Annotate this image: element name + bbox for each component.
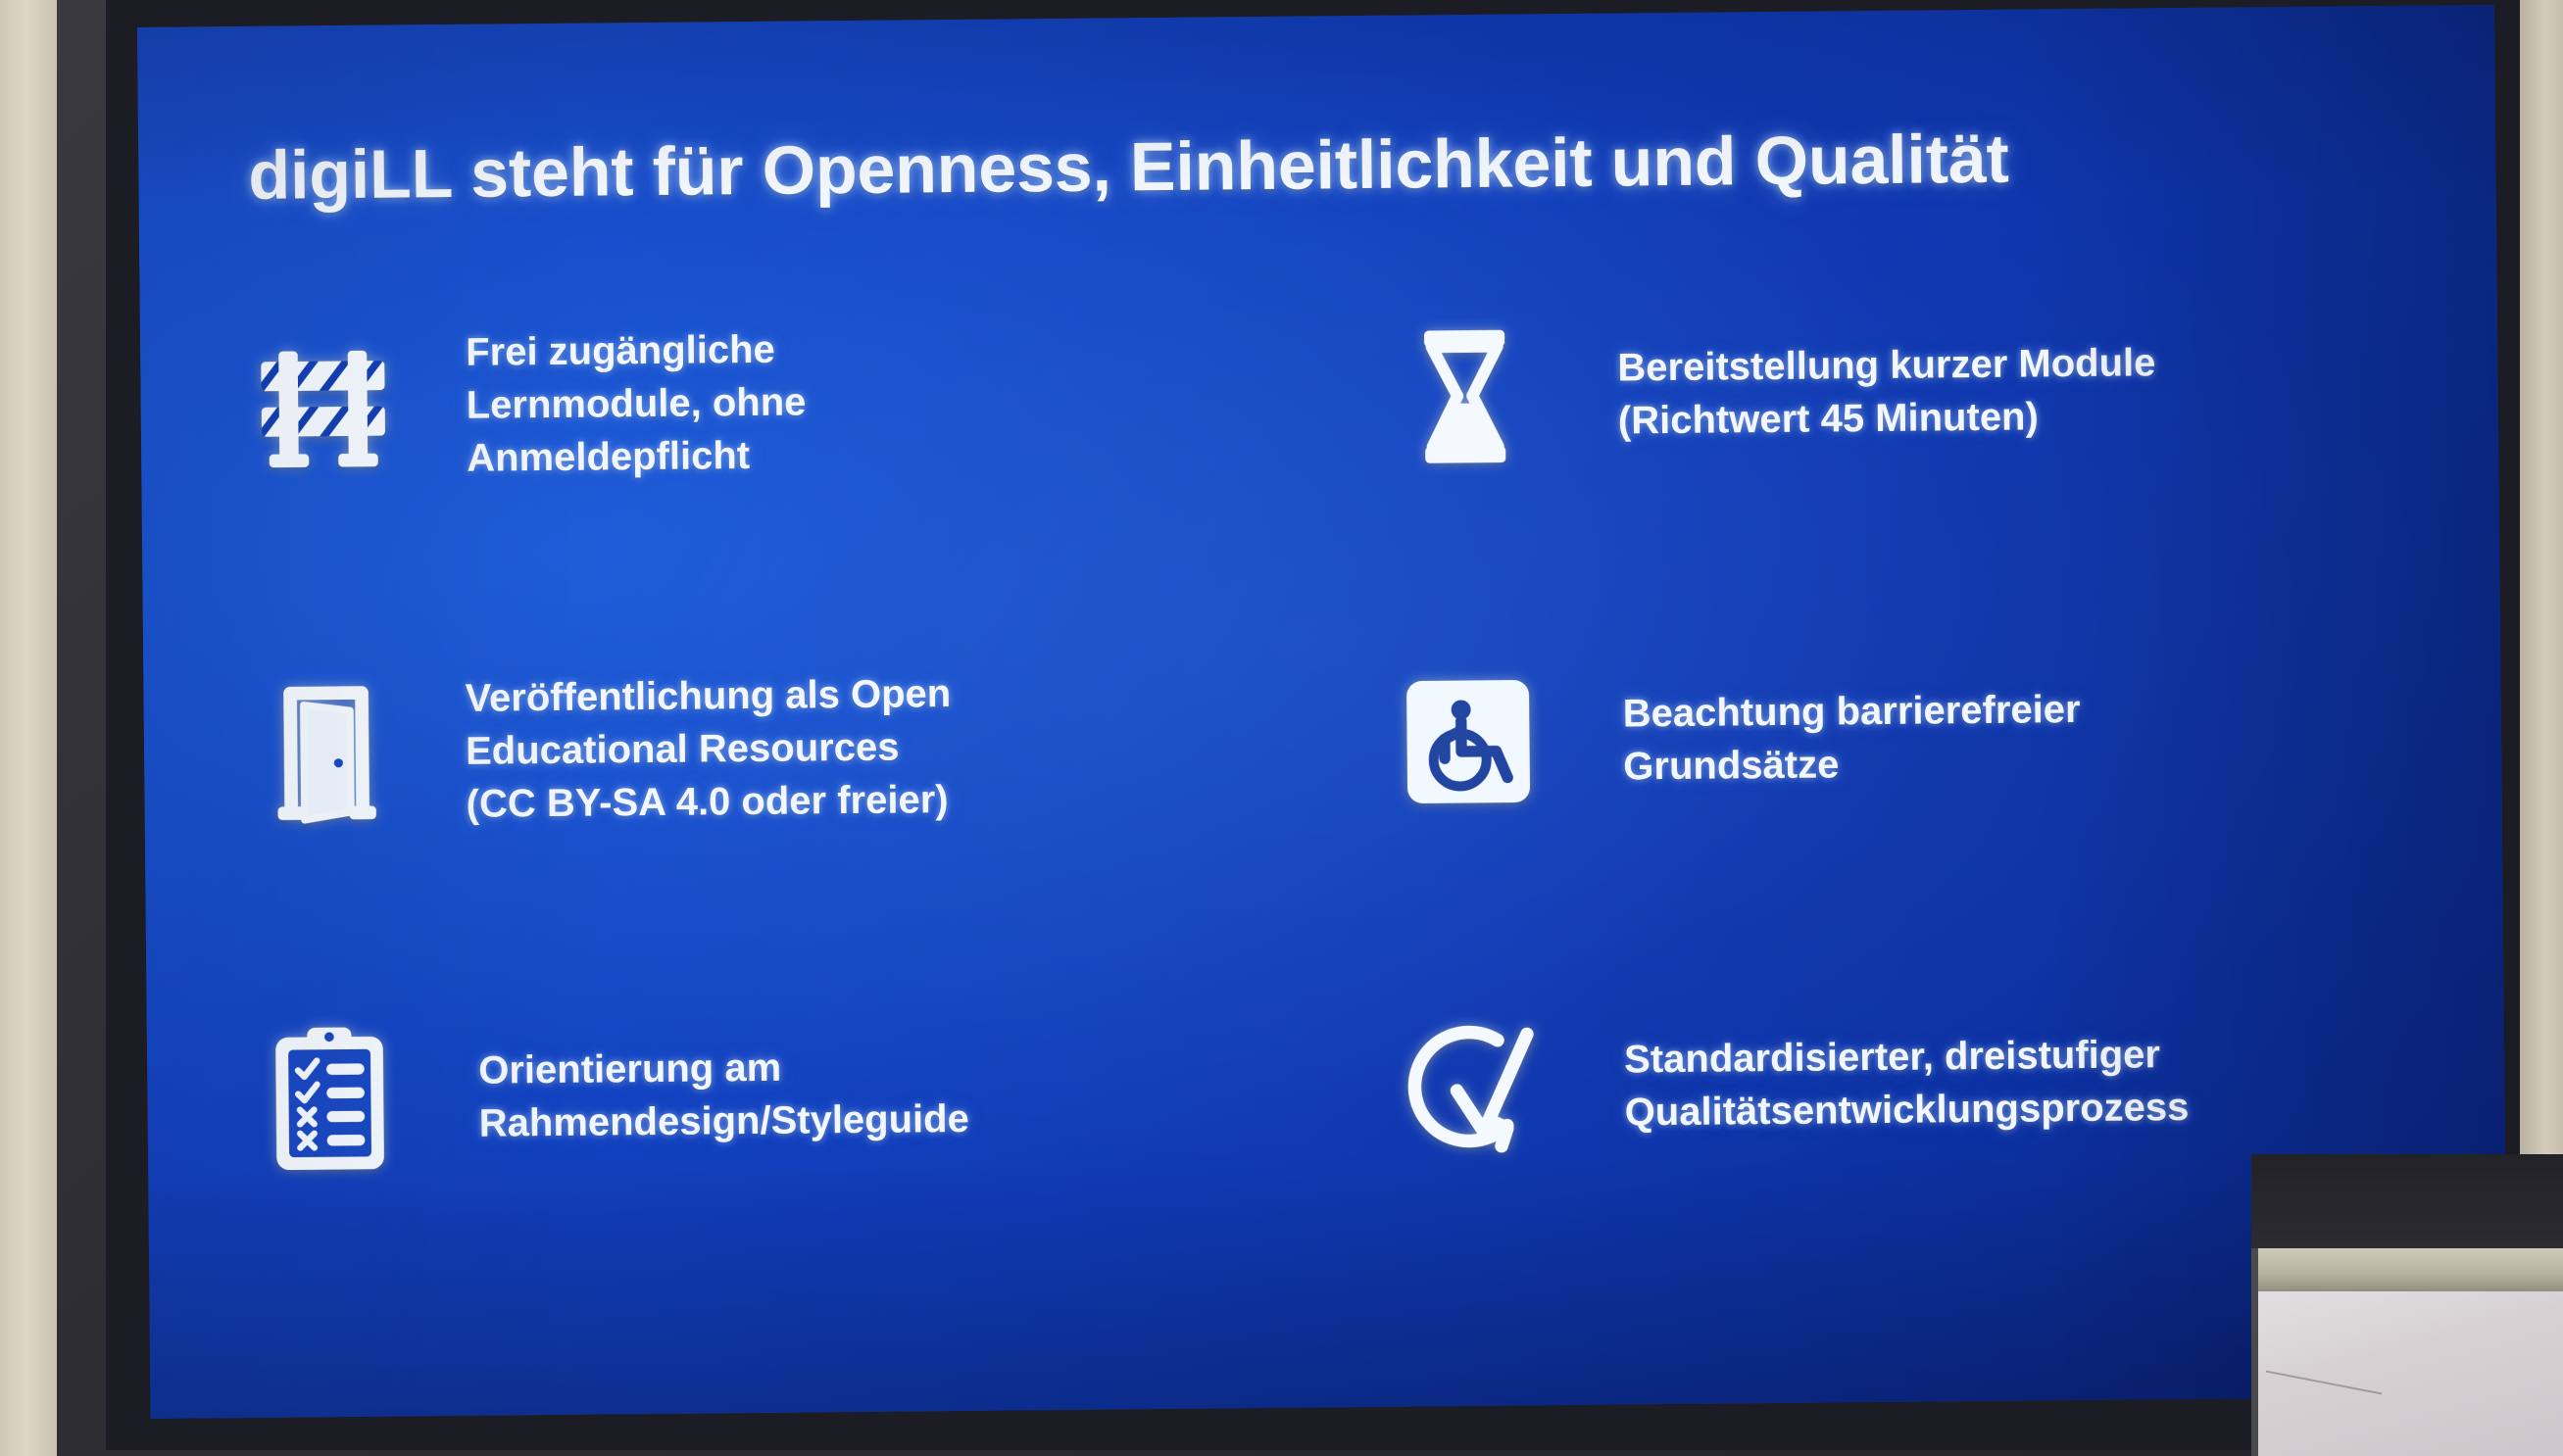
feature-line: Bereitstellung kurzer Module bbox=[1617, 336, 2155, 394]
feature-text: Bereitstellung kurzer Module (Richtwert … bbox=[1617, 336, 2156, 447]
slide-title: digiLL steht für Openness, Einheitlichke… bbox=[248, 116, 2356, 215]
feature-line: Standardisierter, dreistufiger bbox=[1624, 1028, 2189, 1087]
flipchart-paper-crease bbox=[2266, 1371, 2382, 1395]
flipchart-board bbox=[2251, 1248, 2563, 1456]
cycle-checkmark-icon bbox=[1383, 994, 1561, 1182]
slide-background: digiLL steht für Openness, Einheitlichke… bbox=[137, 5, 2508, 1419]
clipboard-checklist-icon bbox=[241, 1005, 419, 1193]
feature-line: Rahmendesign/Styleguide bbox=[478, 1092, 969, 1150]
feature-line: Frei zugängliche bbox=[466, 322, 806, 378]
feature-line: Grundsätze bbox=[1623, 736, 2081, 793]
wall-right-strip bbox=[2520, 0, 2563, 1244]
flipchart-top-rail bbox=[2251, 1248, 2563, 1293]
feature-line: Qualitätsentwicklungsprozess bbox=[1624, 1081, 2189, 1140]
open-door-icon bbox=[237, 658, 416, 847]
feature-line: Anmeldepflicht bbox=[467, 428, 807, 484]
room-photo-scene: digiLL steht für Openness, Einheitlichke… bbox=[0, 0, 2563, 1456]
feature-line: (CC BY-SA 4.0 oder freier) bbox=[466, 773, 952, 831]
flipchart-left-edge bbox=[2251, 1248, 2258, 1456]
wall-left-strip bbox=[0, 0, 57, 1456]
feature-line: Veröffentlichung als Open bbox=[465, 667, 951, 725]
flipchart-paper bbox=[2251, 1291, 2563, 1456]
feature-item-bereitstellung-kurzer-module: Bereitstellung kurzer Module (Richtwert … bbox=[1375, 214, 2422, 570]
feature-line: (Richtwert 45 Minuten) bbox=[1618, 389, 2156, 447]
feature-item-frei-zugaengliche-lernmodule: Frei zugängliche Lernmodule, ohne Anmeld… bbox=[233, 224, 1280, 581]
feature-line: Educational Resources bbox=[466, 720, 952, 778]
feature-line: Beachtung barrierefreier bbox=[1623, 683, 2081, 740]
wheelchair-accessibility-icon bbox=[1379, 648, 1557, 836]
feature-text: Veröffentlichung als Open Educational Re… bbox=[465, 667, 952, 831]
feature-line: Lernmodule, ohne bbox=[466, 375, 806, 431]
feature-line: Orientierung am bbox=[478, 1040, 969, 1097]
feature-text: Orientierung am Rahmendesign/Styleguide bbox=[478, 1040, 969, 1150]
flipchart-gap-shadow bbox=[2251, 1154, 2563, 1248]
feature-item-veroeffentlichung-als-oer: Veröffentlichung als Open Educational Re… bbox=[236, 570, 1283, 927]
road-barrier-icon bbox=[234, 313, 413, 501]
hourglass-icon bbox=[1376, 302, 1554, 490]
feature-text: Standardisierter, dreistufiger Qualitäts… bbox=[1624, 1028, 2190, 1140]
feature-item-barrierefreiheit: Beachtung barrierefreier Grundsätze bbox=[1378, 559, 2425, 916]
feature-text: Frei zugängliche Lernmodule, ohne Anmeld… bbox=[466, 322, 807, 484]
presentation-slide: digiLL steht für Openness, Einheitlichke… bbox=[137, 5, 2508, 1419]
feature-grid: Frei zugängliche Lernmodule, ohne Anmeld… bbox=[233, 214, 2429, 1273]
feature-item-orientierung-rahmendesign: Orientierung am Rahmendesign/Styleguide bbox=[240, 916, 1287, 1273]
feature-text: Beachtung barrierefreier Grundsätze bbox=[1623, 683, 2082, 793]
